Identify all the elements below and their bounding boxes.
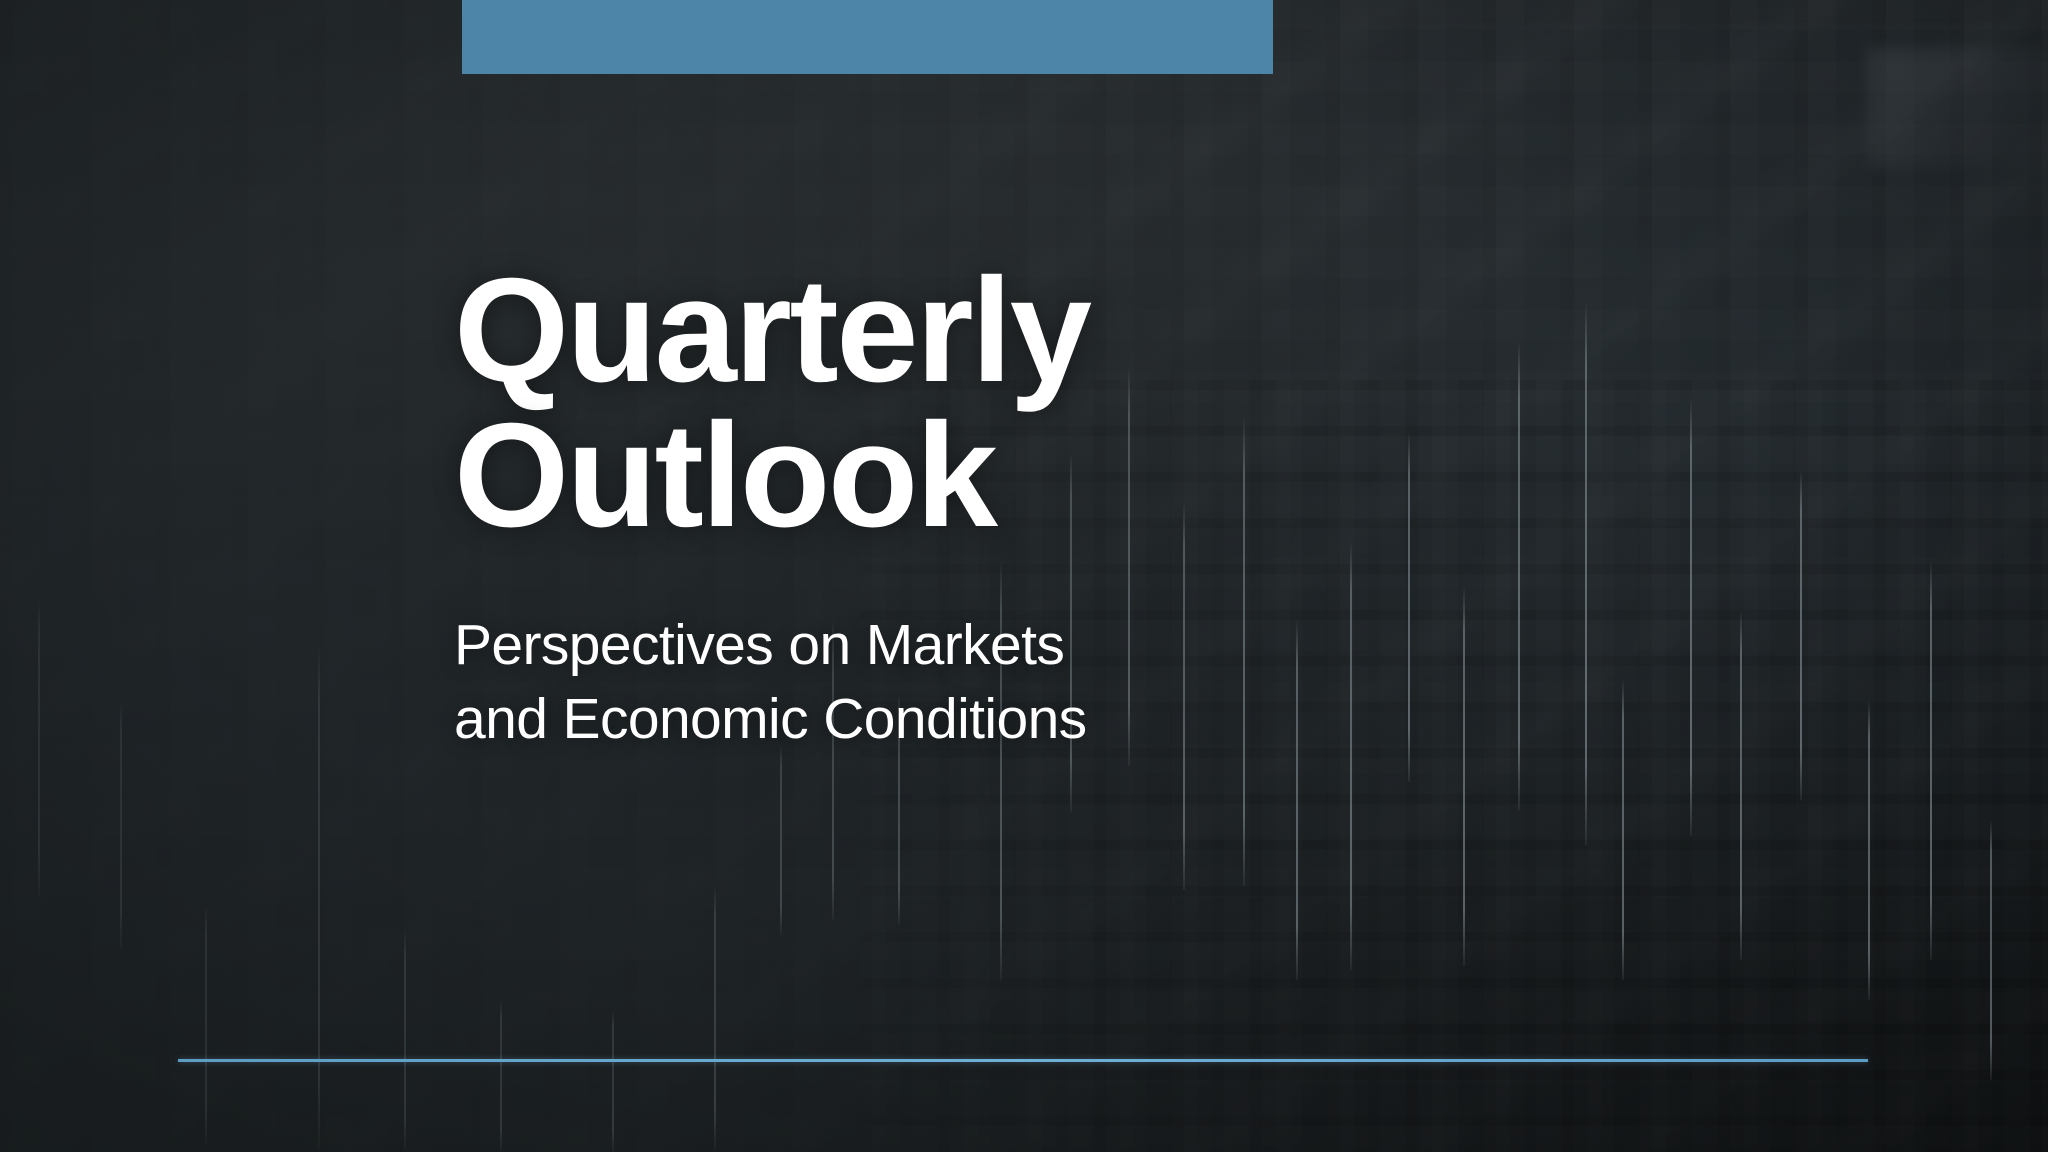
page-title: Quarterly Outlook <box>454 258 1554 548</box>
title-slide: Quarterly Outlook Perspectives on Market… <box>0 0 2048 1152</box>
bottom-divider-rule <box>178 1059 1868 1062</box>
top-accent-bar <box>462 0 1273 74</box>
title-block: Quarterly Outlook Perspectives on Market… <box>454 258 1554 756</box>
page-subtitle: Perspectives on Markets and Economic Con… <box>454 608 1554 756</box>
